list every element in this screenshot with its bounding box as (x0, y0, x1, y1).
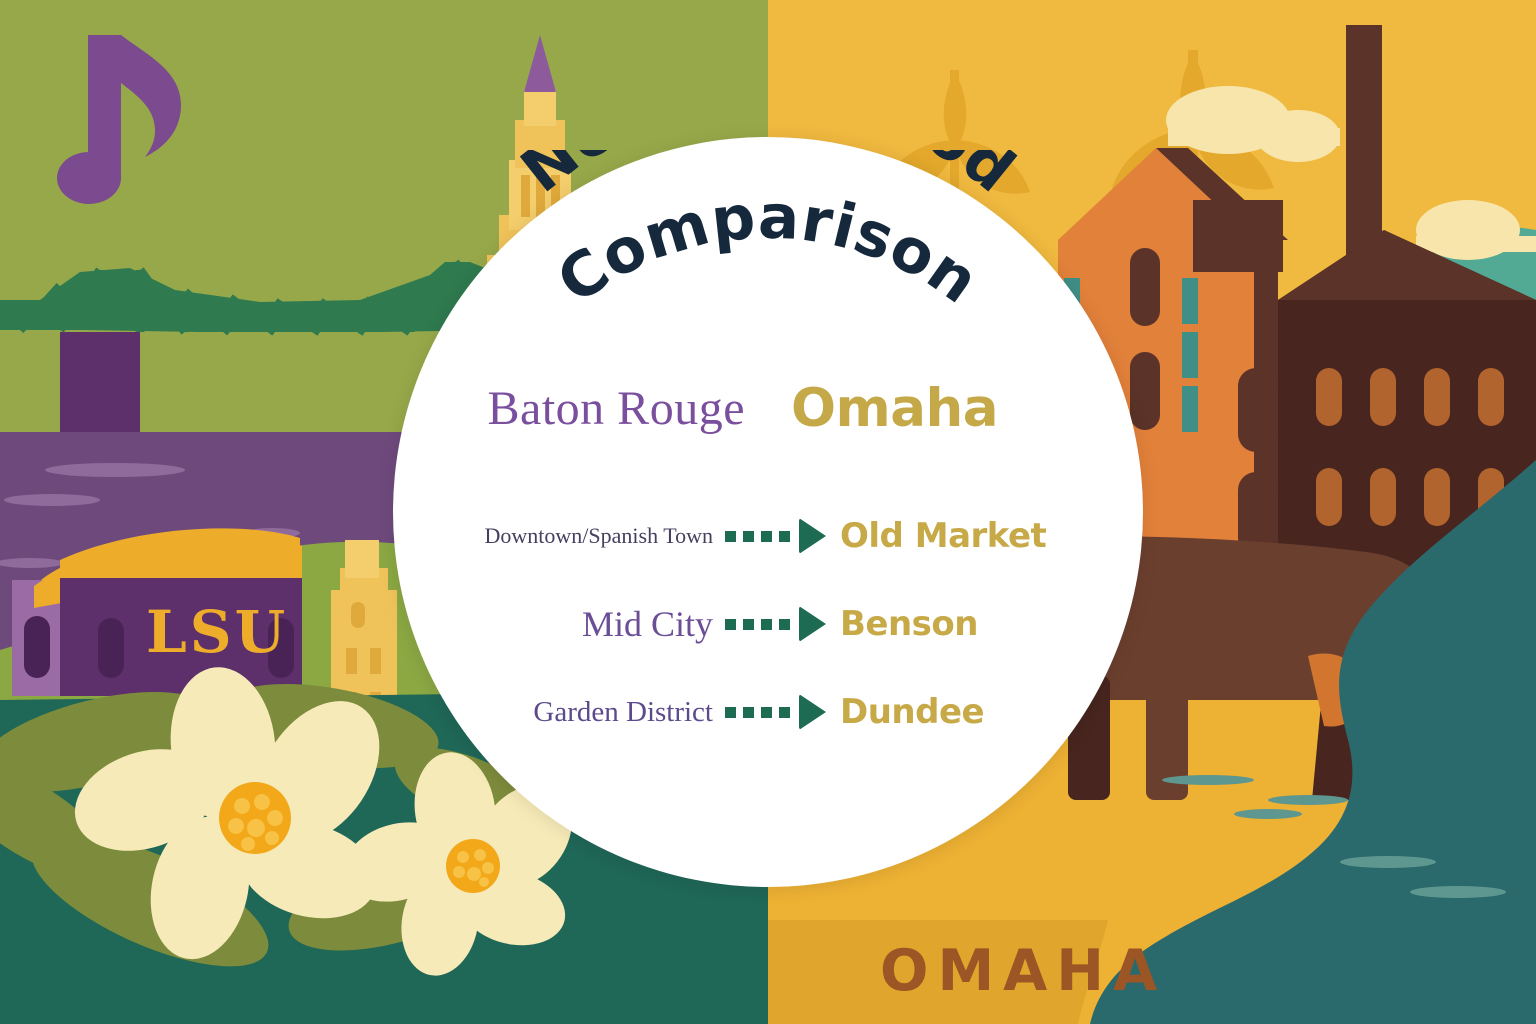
arrow-connector (725, 606, 826, 642)
city-headers: Baton Rouge Omaha (393, 368, 1143, 448)
dash-icon (761, 707, 772, 718)
baton-rouge-neighborhood: Mid City (393, 603, 725, 645)
omaha-header: Omaha (753, 378, 1143, 439)
dash-icon (725, 707, 736, 718)
dash-icon (743, 619, 754, 630)
dash-icon (779, 619, 790, 630)
comparison-rows: Downtown/Spanish Town Old Market Mid Cit… (393, 492, 1143, 756)
dash-icon (725, 531, 736, 542)
lsu-wordmark: LSU (146, 598, 288, 666)
comparison-row: Garden District Dundee (393, 668, 1143, 756)
dash-icon (779, 707, 790, 718)
arrow-right-icon (799, 518, 826, 554)
dash-icon (743, 531, 754, 542)
omaha-wordmark: OMAHA (880, 938, 1166, 1004)
comparison-row: Downtown/Spanish Town Old Market (393, 492, 1143, 580)
baton-rouge-neighborhood: Garden District (393, 696, 725, 729)
dash-icon (743, 707, 754, 718)
dash-icon (725, 619, 736, 630)
arrow-connector (725, 694, 826, 730)
arrow-right-icon (799, 606, 826, 642)
baton-rouge-neighborhood: Downtown/Spanish Town (393, 523, 725, 549)
dash-icon (761, 531, 772, 542)
comparison-row: Mid City Benson (393, 580, 1143, 668)
dash-icon (779, 531, 790, 542)
arrow-connector (725, 518, 826, 554)
omaha-neighborhood: Dundee (826, 692, 1143, 732)
arrow-right-icon (799, 694, 826, 730)
dash-icon (761, 619, 772, 630)
infographic-canvas: LSU (0, 0, 1536, 1024)
omaha-neighborhood: Old Market (826, 516, 1143, 556)
omaha-neighborhood: Benson (826, 604, 1143, 644)
baton-rouge-header: Baton Rouge (393, 381, 753, 436)
